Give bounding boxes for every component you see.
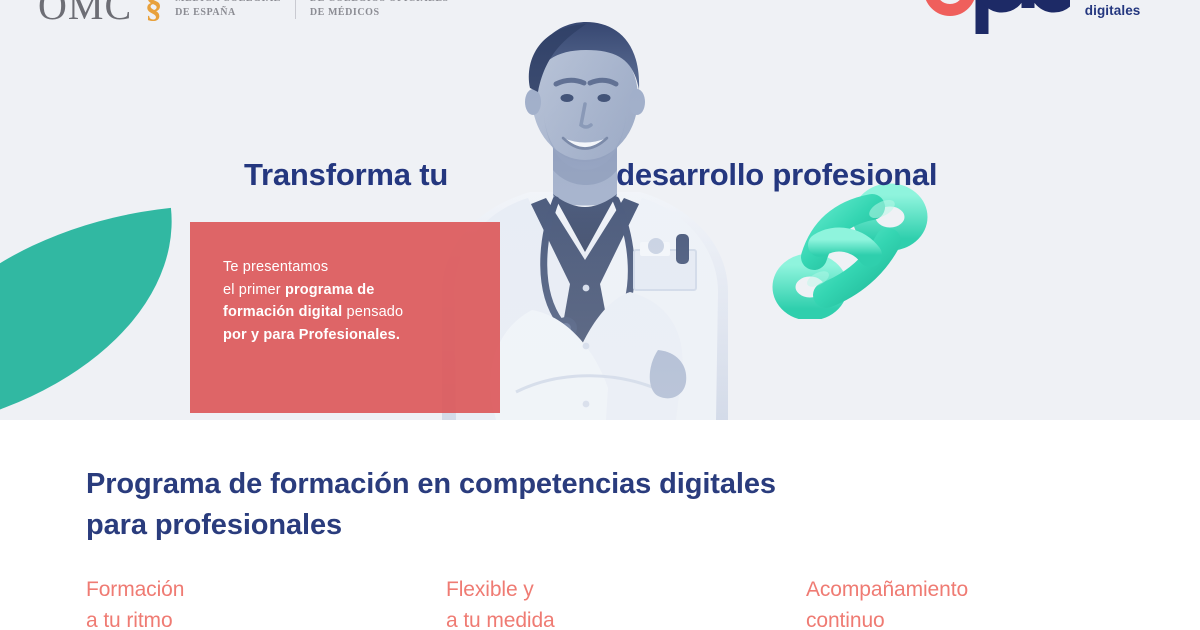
feature-2-line1: Flexible y (446, 574, 806, 605)
opro-tagline-line2: digitales (1085, 3, 1141, 18)
opro-tagline: competencias digitales (1085, 0, 1176, 20)
section-title: Programa de formación en competencias di… (86, 464, 1096, 546)
opro-logo[interactable]: competencias digitales (924, 0, 1176, 30)
red-panel-text: Te presentamos el primer programa de for… (223, 256, 500, 346)
teal-leaf-shape (0, 208, 191, 420)
omc-col2-line1: DE COLEGIOS OFICIALES (310, 0, 449, 4)
omc-col1-line1: MÉDICA COLEGIAL (175, 0, 281, 4)
hero-headline: Transforma tudesarrollo profesional (244, 157, 1004, 193)
omc-col2-line2: DE MÉDICOS (310, 7, 380, 18)
panel-line-1: Te presentamos (223, 259, 328, 275)
omc-subtitle: MÉDICA COLEGIAL DE ESPAÑA DE COLEGIOS OF… (175, 0, 449, 19)
feature-item-acompanamiento: Acompañamiento continuo (806, 574, 1146, 630)
teal-knot-graphic (762, 183, 938, 319)
lower-section: Programa de formación en competencias di… (0, 420, 1200, 630)
hero-headline-part2: desarrollo profesional (616, 157, 937, 192)
hero-headline-part1: Transforma tu (244, 157, 448, 192)
omc-wordmark: OMC (38, 0, 132, 26)
omc-col1-line2: DE ESPAÑA (175, 7, 236, 18)
panel-line-3-plain: pensado (342, 304, 403, 320)
section-title-line1: Programa de formación en competencias di… (86, 468, 776, 500)
feature-2-line2: a tu medida (446, 605, 806, 630)
panel-line-2-bold: programa de (285, 282, 374, 298)
section-title-line2: para profesionales (86, 509, 342, 541)
feature-1-line2: a tu ritmo (86, 605, 446, 630)
feature-3-line1: Acompañamiento (806, 574, 1146, 605)
feature-3-line2: continuo (806, 605, 1146, 630)
omc-subtitle-col2: DE COLEGIOS OFICIALES DE MÉDICOS (295, 0, 449, 19)
logo-bar: OMC § MÉDICA COLEGIAL DE ESPAÑA DE COLEG… (0, 0, 1200, 46)
panel-line-2-plain: el primer (223, 282, 285, 298)
feature-1-line1: Formación (86, 574, 446, 605)
feature-list: Formación a tu ritmo Flexible y a tu med… (86, 574, 1146, 630)
hero-red-panel: Te presentamos el primer programa de for… (190, 222, 500, 413)
panel-line-4: por y para Profesionales. (223, 327, 400, 343)
feature-item-formacion: Formación a tu ritmo (86, 574, 446, 630)
omc-logo[interactable]: OMC § MÉDICA COLEGIAL DE ESPAÑA DE COLEG… (38, 0, 449, 28)
opro-wordmark (924, 0, 1070, 30)
omc-subtitle-col1: MÉDICA COLEGIAL DE ESPAÑA (175, 0, 281, 19)
section-symbol-icon: § (145, 0, 162, 28)
feature-item-flexible: Flexible y a tu medida (446, 574, 806, 630)
landing-page: Transforma tudesarrollo profesional Te p… (0, 0, 1200, 630)
hero-section: Transforma tudesarrollo profesional Te p… (0, 0, 1200, 420)
panel-line-3-bold: formación digital (223, 304, 342, 320)
